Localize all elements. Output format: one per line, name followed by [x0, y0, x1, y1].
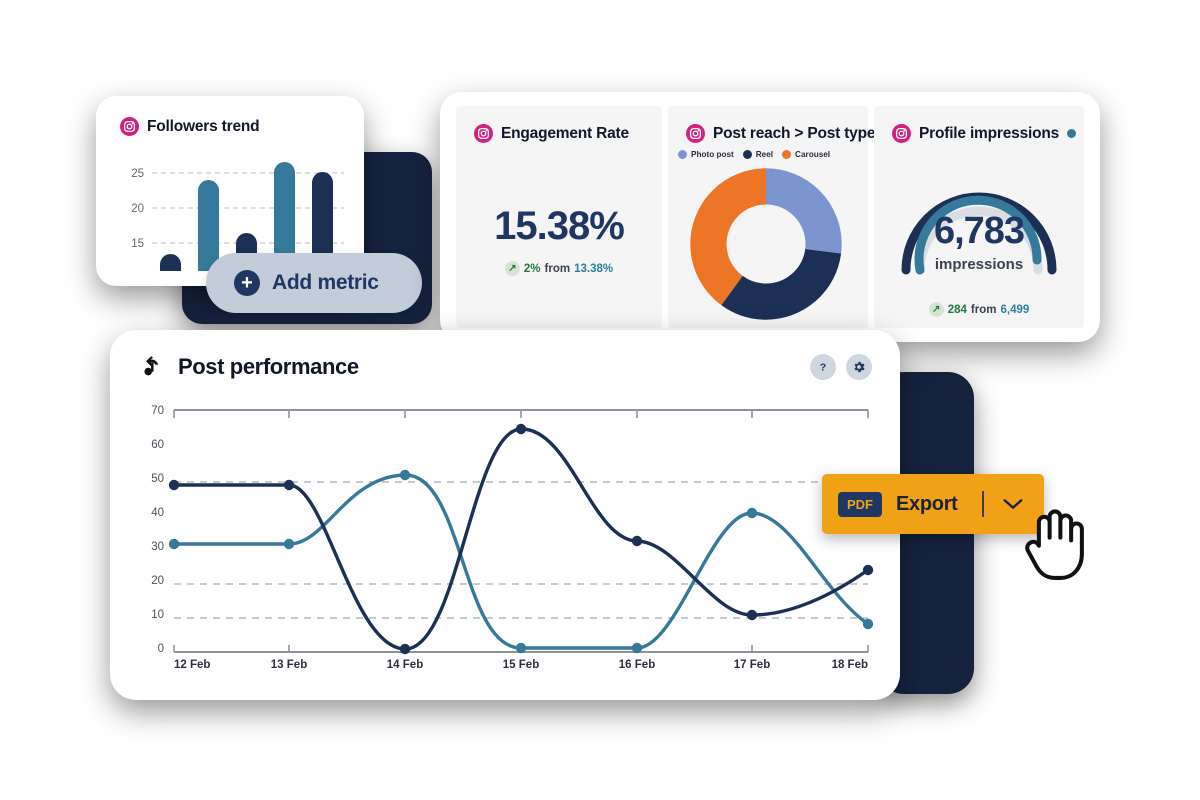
- profile-impressions-card: Profile impressions 6,783 impressions ↗ …: [874, 106, 1084, 328]
- line-series-navy: [174, 429, 868, 649]
- points-series-navy: [169, 424, 873, 654]
- top-tick-label-3: 8 Feb: [506, 402, 536, 404]
- engagement-card-title: Engagement Rate: [501, 125, 629, 143]
- y-tick-20: 20: [131, 203, 144, 215]
- y-tick-15: 15: [131, 238, 144, 250]
- bottom-tick-label-5: 17 Feb: [734, 659, 770, 670]
- plus-circle-icon: +: [234, 270, 260, 296]
- gear-icon: [852, 360, 866, 374]
- y-tick-40: 40: [151, 507, 164, 519]
- help-button[interactable]: ?: [810, 354, 836, 380]
- y-tick-25: 25: [131, 168, 144, 180]
- bottom-tick-label-1: 13 Feb: [271, 659, 307, 670]
- svg-text:?: ?: [820, 362, 826, 374]
- bar-2: [198, 180, 219, 271]
- post-performance-header: Post performance ?: [140, 354, 872, 380]
- donut-slice-carousel: [708, 186, 823, 301]
- status-dot-icon: [1067, 129, 1076, 138]
- followers-card-title: Followers trend: [147, 118, 259, 136]
- post-performance-card: Post performance ? 70 60 50: [110, 330, 900, 700]
- legend-swatch-reel: [743, 150, 752, 159]
- reach-card-title: Post reach > Post type: [713, 125, 875, 143]
- donut-legend: Photo post Reel Carousel: [678, 150, 860, 159]
- y-axis-labels: 70 60 50 40 30 20 10 0: [151, 405, 164, 655]
- impressions-delta-previous: 6,499: [1000, 304, 1029, 316]
- impressions-unit: impressions: [874, 256, 1084, 273]
- export-pdf-badge: PDF: [838, 492, 882, 517]
- top-tick-label-2: 7 Feb: [390, 402, 420, 404]
- metrics-panel: Engagement Rate 15.38% ↗ 2% from 13.38%: [440, 92, 1100, 342]
- bottom-axis-labels: 12 Feb 13 Feb 14 Feb 15 Feb 16 Feb 17 Fe…: [174, 659, 868, 670]
- legend-label-photo-post: Photo post: [691, 150, 734, 159]
- add-metric-button[interactable]: + Add metric: [206, 253, 422, 313]
- post-performance-actions: ?: [810, 354, 872, 380]
- post-reach-card: Post reach > Post type Photo post Reel C…: [668, 106, 868, 328]
- music-note-icon: [140, 354, 166, 380]
- engagement-delta-word: from: [545, 263, 571, 275]
- line-series-teal: [174, 475, 868, 648]
- legend-label-reel: Reel: [756, 150, 773, 159]
- bottom-tick-label-0: 12 Feb: [174, 659, 210, 670]
- top-tick-label-5: 10 Feb: [734, 402, 770, 404]
- points-series-teal: [169, 470, 873, 653]
- legend-swatch-carousel: [782, 150, 791, 159]
- y-tick-70: 70: [151, 405, 164, 417]
- engagement-rate-value: 15.38%: [456, 204, 662, 249]
- bottom-tick-label-6: 18 Feb: [832, 659, 868, 670]
- bar-1: [160, 254, 181, 271]
- top-axis-labels: 5 Feb 6 Feb 7 Feb 8 Feb 9 Feb 10 Feb 11 …: [174, 402, 868, 404]
- trend-up-arrow-icon: ↗: [505, 261, 520, 276]
- impressions-value: 6,783: [874, 210, 1084, 253]
- top-tick-label-1: 6 Feb: [274, 402, 304, 404]
- bottom-tick-label-2: 14 Feb: [387, 659, 423, 670]
- legend-swatch-photo-post: [678, 150, 687, 159]
- legend-item-reel: Reel: [743, 150, 773, 159]
- impressions-delta-value: 284: [948, 304, 967, 316]
- y-tick-30: 30: [151, 541, 164, 553]
- trend-up-arrow-icon: ↗: [929, 302, 944, 317]
- top-tick-label-0: 5 Feb: [174, 402, 204, 404]
- legend-item-photo-post: Photo post: [678, 150, 734, 159]
- instagram-icon: [686, 124, 705, 143]
- engagement-delta: ↗ 2% from 13.38%: [456, 261, 662, 276]
- top-axis-ticks: [174, 410, 868, 418]
- top-tick-label-6: 11 Feb: [832, 402, 868, 404]
- legend-label-carousel: Carousel: [795, 150, 830, 159]
- export-button[interactable]: PDF Export: [822, 474, 1044, 534]
- engagement-card-header: Engagement Rate: [474, 124, 629, 143]
- hand-pointer-icon: [1012, 500, 1098, 586]
- engagement-delta-previous: 13.38%: [574, 263, 613, 275]
- engagement-delta-value: 2%: [524, 263, 541, 275]
- top-tick-label-4: 9 Feb: [622, 402, 652, 404]
- y-tick-50: 50: [151, 473, 164, 485]
- bottom-tick-label-4: 16 Feb: [619, 659, 655, 670]
- y-tick-60: 60: [151, 439, 164, 451]
- engagement-rate-card: Engagement Rate 15.38% ↗ 2% from 13.38%: [456, 106, 662, 328]
- post-reach-donut-chart: [690, 168, 842, 320]
- y-tick-0: 0: [158, 643, 164, 655]
- instagram-icon: [120, 117, 139, 136]
- y-tick-10: 10: [151, 609, 164, 621]
- export-label: Export: [896, 493, 958, 516]
- instagram-icon: [474, 124, 493, 143]
- followers-card-header: Followers trend: [120, 117, 259, 136]
- screenshot-root: Followers trend 25 20 15 + Add metric: [0, 0, 1200, 800]
- impressions-card-header: Profile impressions: [892, 124, 1076, 143]
- settings-button[interactable]: [846, 354, 872, 380]
- question-mark-icon: ?: [816, 360, 830, 374]
- instagram-icon: [892, 124, 911, 143]
- bottom-tick-label-3: 15 Feb: [503, 659, 539, 670]
- export-divider: [982, 491, 984, 517]
- add-metric-label: Add metric: [272, 271, 379, 295]
- post-performance-title: Post performance: [178, 354, 359, 380]
- reach-card-header: Post reach > Post type: [686, 124, 875, 143]
- y-tick-20: 20: [151, 575, 164, 587]
- impressions-delta-word: from: [971, 304, 997, 316]
- post-performance-line-chart: 70 60 50 40 30 20 10 0 5 Feb 6 Feb 7 Feb: [132, 402, 882, 670]
- impressions-card-title: Profile impressions: [919, 125, 1059, 143]
- legend-item-carousel: Carousel: [782, 150, 830, 159]
- impressions-delta: ↗ 284 from 6,499: [874, 302, 1084, 317]
